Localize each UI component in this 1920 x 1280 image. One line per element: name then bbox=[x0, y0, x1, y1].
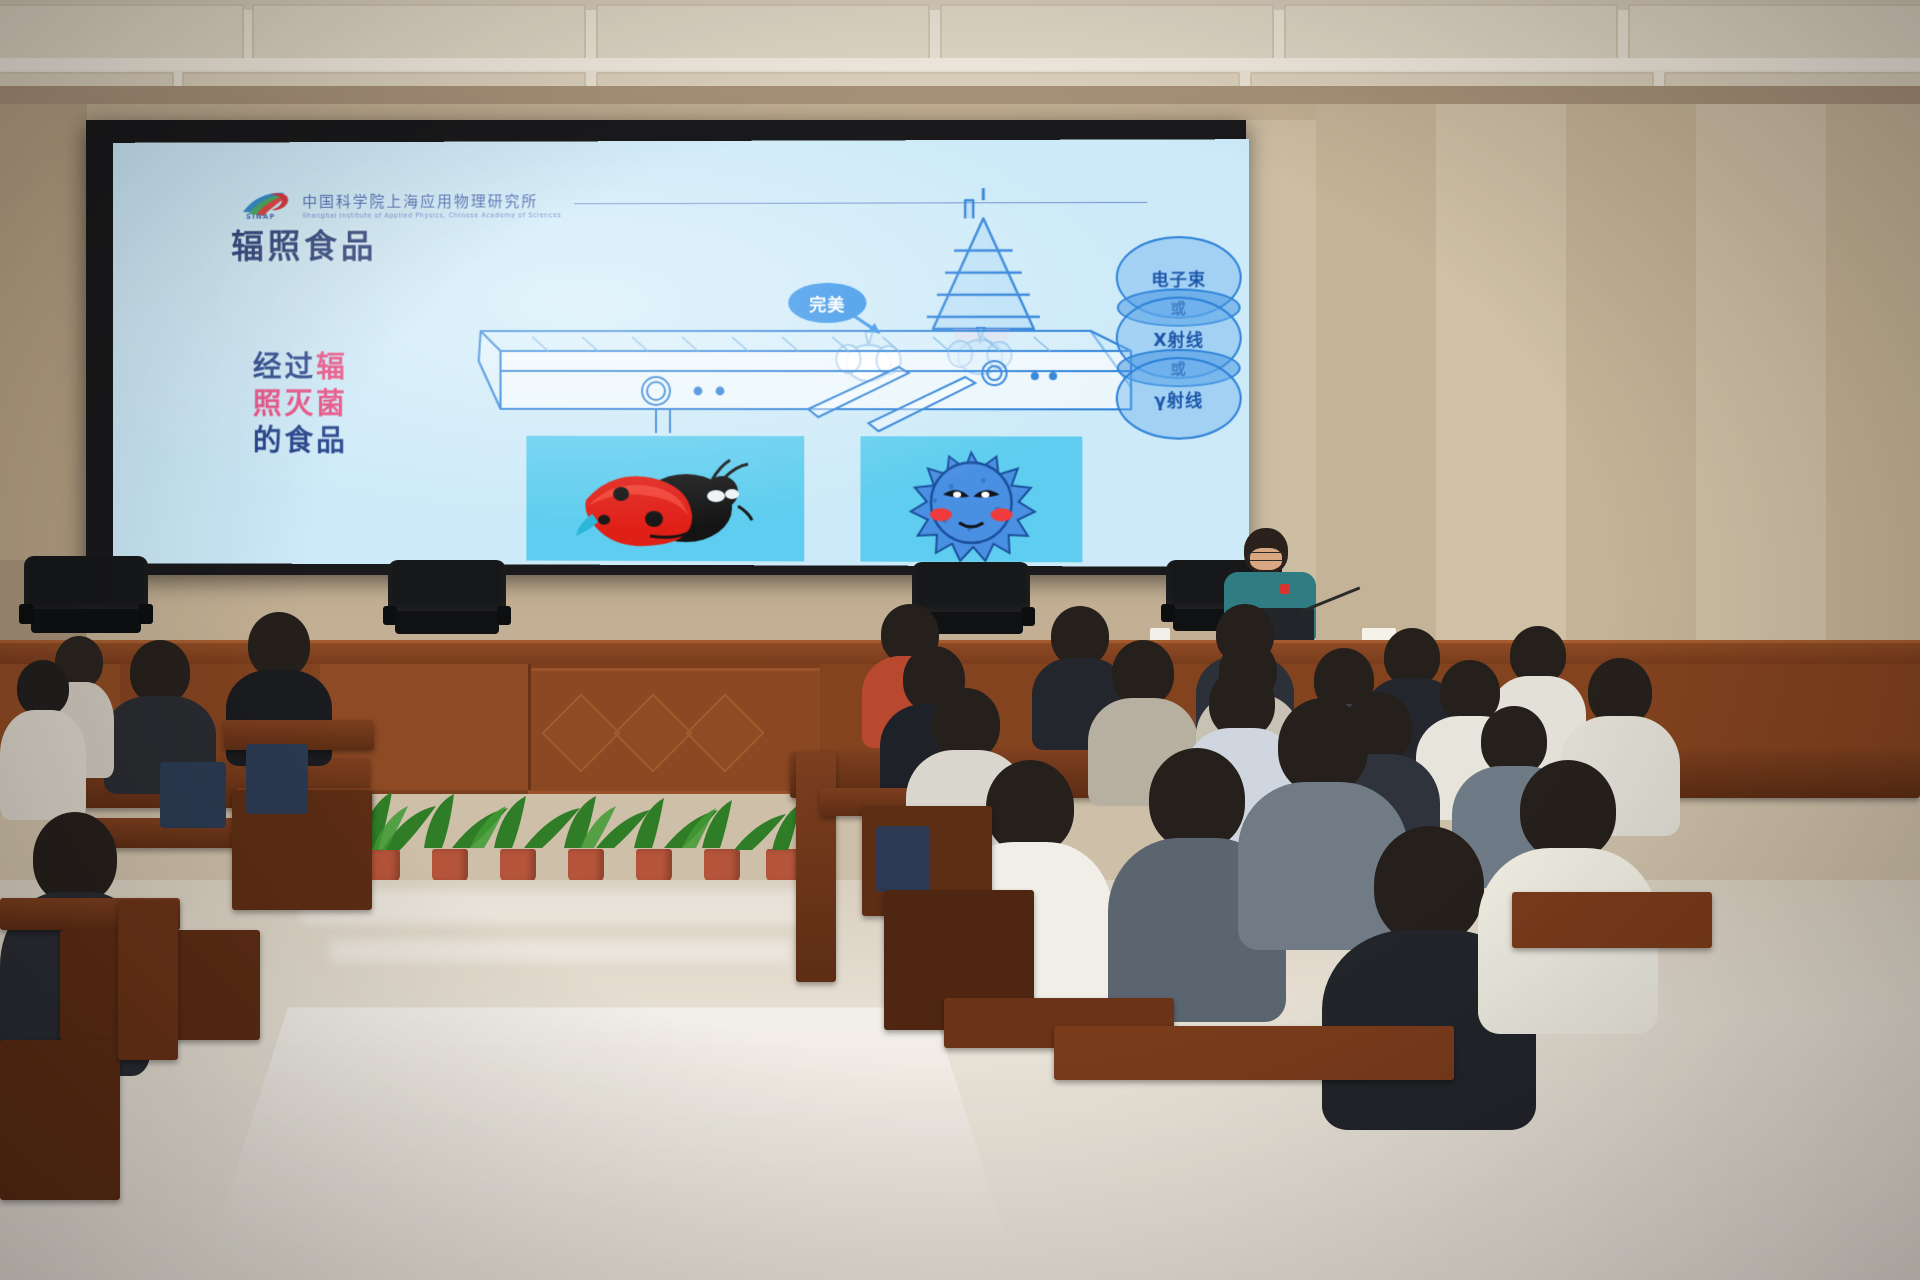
stage-chair bbox=[24, 556, 148, 648]
podium-panel bbox=[528, 668, 826, 794]
audience-bench bbox=[1512, 892, 1712, 948]
plant-foliage-icon bbox=[352, 778, 812, 883]
oval-gamma-ray: γ射线 bbox=[1116, 357, 1242, 440]
photo-card-ladybug bbox=[526, 436, 804, 562]
seat-arm bbox=[118, 900, 178, 1060]
oval-label: 电子束 bbox=[1151, 265, 1206, 290]
oval-label: γ射线 bbox=[1154, 386, 1203, 411]
callout-arrow-icon bbox=[850, 313, 884, 337]
audience-member bbox=[0, 660, 86, 820]
photo-card-virus bbox=[860, 436, 1082, 562]
seat-cushion bbox=[160, 762, 226, 828]
glasses-icon bbox=[1248, 552, 1286, 561]
plant-row bbox=[352, 778, 812, 883]
presentation-slide: SINAP 中国科学院上海应用物理研究所 Shanghai Institute … bbox=[113, 139, 1249, 567]
oval-label: X射线 bbox=[1153, 325, 1204, 350]
projection-screen: SINAP 中国科学院上海应用物理研究所 Shanghai Institute … bbox=[113, 139, 1249, 567]
seat-back bbox=[0, 1040, 120, 1200]
stage-chair bbox=[388, 560, 506, 648]
callout-bubble-label: 完美 bbox=[809, 290, 845, 315]
lecture-hall-scene: SINAP 中国科学院上海应用物理研究所 Shanghai Institute … bbox=[0, 0, 1920, 1280]
aisle-divider bbox=[796, 752, 836, 982]
seat-cushion bbox=[876, 826, 930, 892]
badge-icon bbox=[1280, 584, 1290, 594]
seat-cushion bbox=[246, 744, 308, 814]
audience-bench bbox=[1054, 1026, 1454, 1080]
